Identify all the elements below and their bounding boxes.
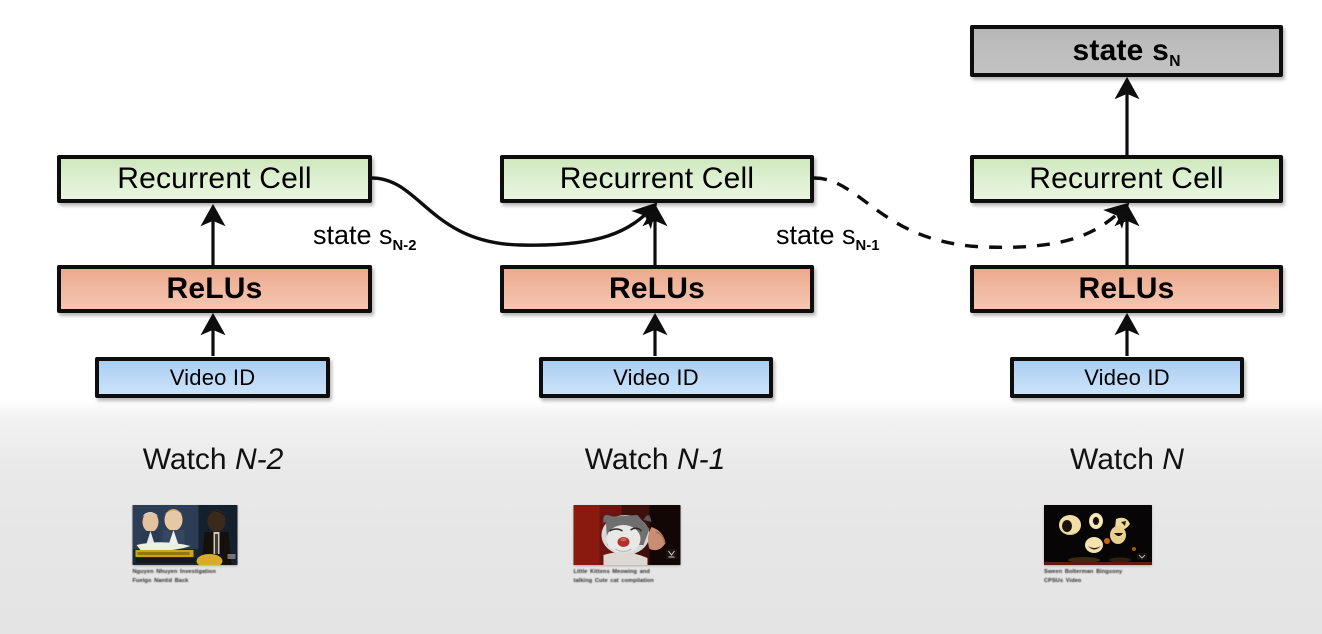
watch-prefix: Watch — [585, 443, 677, 476]
watch-index: N-1 — [677, 443, 725, 476]
relus-label: ReLUs — [166, 274, 262, 304]
watch-prefix: Watch — [143, 443, 235, 476]
edge-label-text: state s — [313, 220, 393, 250]
watch-label-n: Watch N — [1070, 443, 1184, 477]
recurrent-cell-label: Recurrent Cell — [117, 164, 312, 194]
thumbnail-block-n-minus-2[interactable]: Nguyen Nhuyen Investigation Fuelgo Nanti… — [133, 505, 238, 586]
thumbnail-block-n-minus-1[interactable]: Little Kittens Meowing and talking Cute … — [574, 505, 681, 586]
video-id-label: Video ID — [1084, 367, 1170, 389]
recurrent-cell-n-minus-1[interactable]: Recurrent Cell — [500, 155, 814, 203]
relus-n-minus-2[interactable]: ReLUs — [57, 265, 372, 313]
edge-label-state-n-minus-2: state sN-2 — [313, 220, 416, 251]
watch-prefix: Watch — [1070, 443, 1162, 476]
video-id-label: Video ID — [613, 367, 699, 389]
caption-line-2: Fuelgo Nantid Back — [133, 578, 189, 584]
watch-label-n-minus-2: Watch N-2 — [143, 443, 284, 477]
state-output-box: state sN — [970, 25, 1283, 77]
video-id-n-minus-2[interactable]: Video ID — [95, 357, 330, 398]
thumbnail-caption-n: Sween Bolterman Bingsony CPSUs Video — [1044, 568, 1152, 586]
relus-n[interactable]: ReLUs — [970, 265, 1283, 313]
video-thumbnail-news[interactable] — [133, 505, 238, 565]
watch-label-n-minus-1: Watch N-1 — [585, 443, 726, 477]
relus-label: ReLUs — [1078, 274, 1174, 304]
caption-line-2: CPSUs Video — [1044, 578, 1081, 584]
relus-n-minus-1[interactable]: ReLUs — [500, 265, 814, 313]
thumbnail-art-cat — [574, 505, 681, 565]
edge-label-sub: N-1 — [856, 238, 880, 254]
recurrent-cell-label: Recurrent Cell — [1029, 164, 1224, 194]
watch-index: N — [1162, 443, 1184, 476]
caption-line-1: Sween Bolterman Bingsony — [1044, 569, 1122, 575]
diagram-canvas: state sN Recurrent Cell ReLUs Video ID W… — [0, 0, 1322, 634]
edge-label-sub: N-2 — [393, 238, 417, 254]
video-id-label: Video ID — [170, 367, 256, 389]
caption-line-1: Nguyen Nhuyen Investigation — [133, 569, 216, 575]
edge-label-state-n-minus-1: state sN-1 — [776, 220, 879, 251]
video-thumbnail-dark[interactable] — [1044, 505, 1152, 565]
thumbnail-art-dark — [1044, 505, 1152, 565]
thumbnail-caption-n-minus-1: Little Kittens Meowing and talking Cute … — [574, 568, 681, 586]
recurrent-cell-n[interactable]: Recurrent Cell — [970, 155, 1283, 203]
caption-line-2: talking Cute cat compilation — [574, 578, 654, 584]
video-id-n[interactable]: Video ID — [1010, 357, 1244, 398]
state-output-label: state sN — [1073, 36, 1181, 66]
watch-index: N-2 — [235, 443, 283, 476]
relus-label: ReLUs — [609, 274, 705, 304]
video-thumbnail-cat[interactable] — [574, 505, 681, 565]
video-id-n-minus-1[interactable]: Video ID — [539, 357, 773, 398]
thumbnail-caption-n-minus-2: Nguyen Nhuyen Investigation Fuelgo Nanti… — [133, 568, 238, 586]
recurrent-cell-n-minus-2[interactable]: Recurrent Cell — [57, 155, 372, 203]
caption-line-1: Little Kittens Meowing and — [574, 569, 650, 575]
thumbnail-art-news — [133, 505, 238, 565]
edge-label-text: state s — [776, 220, 856, 250]
recurrent-cell-label: Recurrent Cell — [560, 164, 755, 194]
thumbnail-block-n[interactable]: Sween Bolterman Bingsony CPSUs Video — [1044, 505, 1152, 586]
